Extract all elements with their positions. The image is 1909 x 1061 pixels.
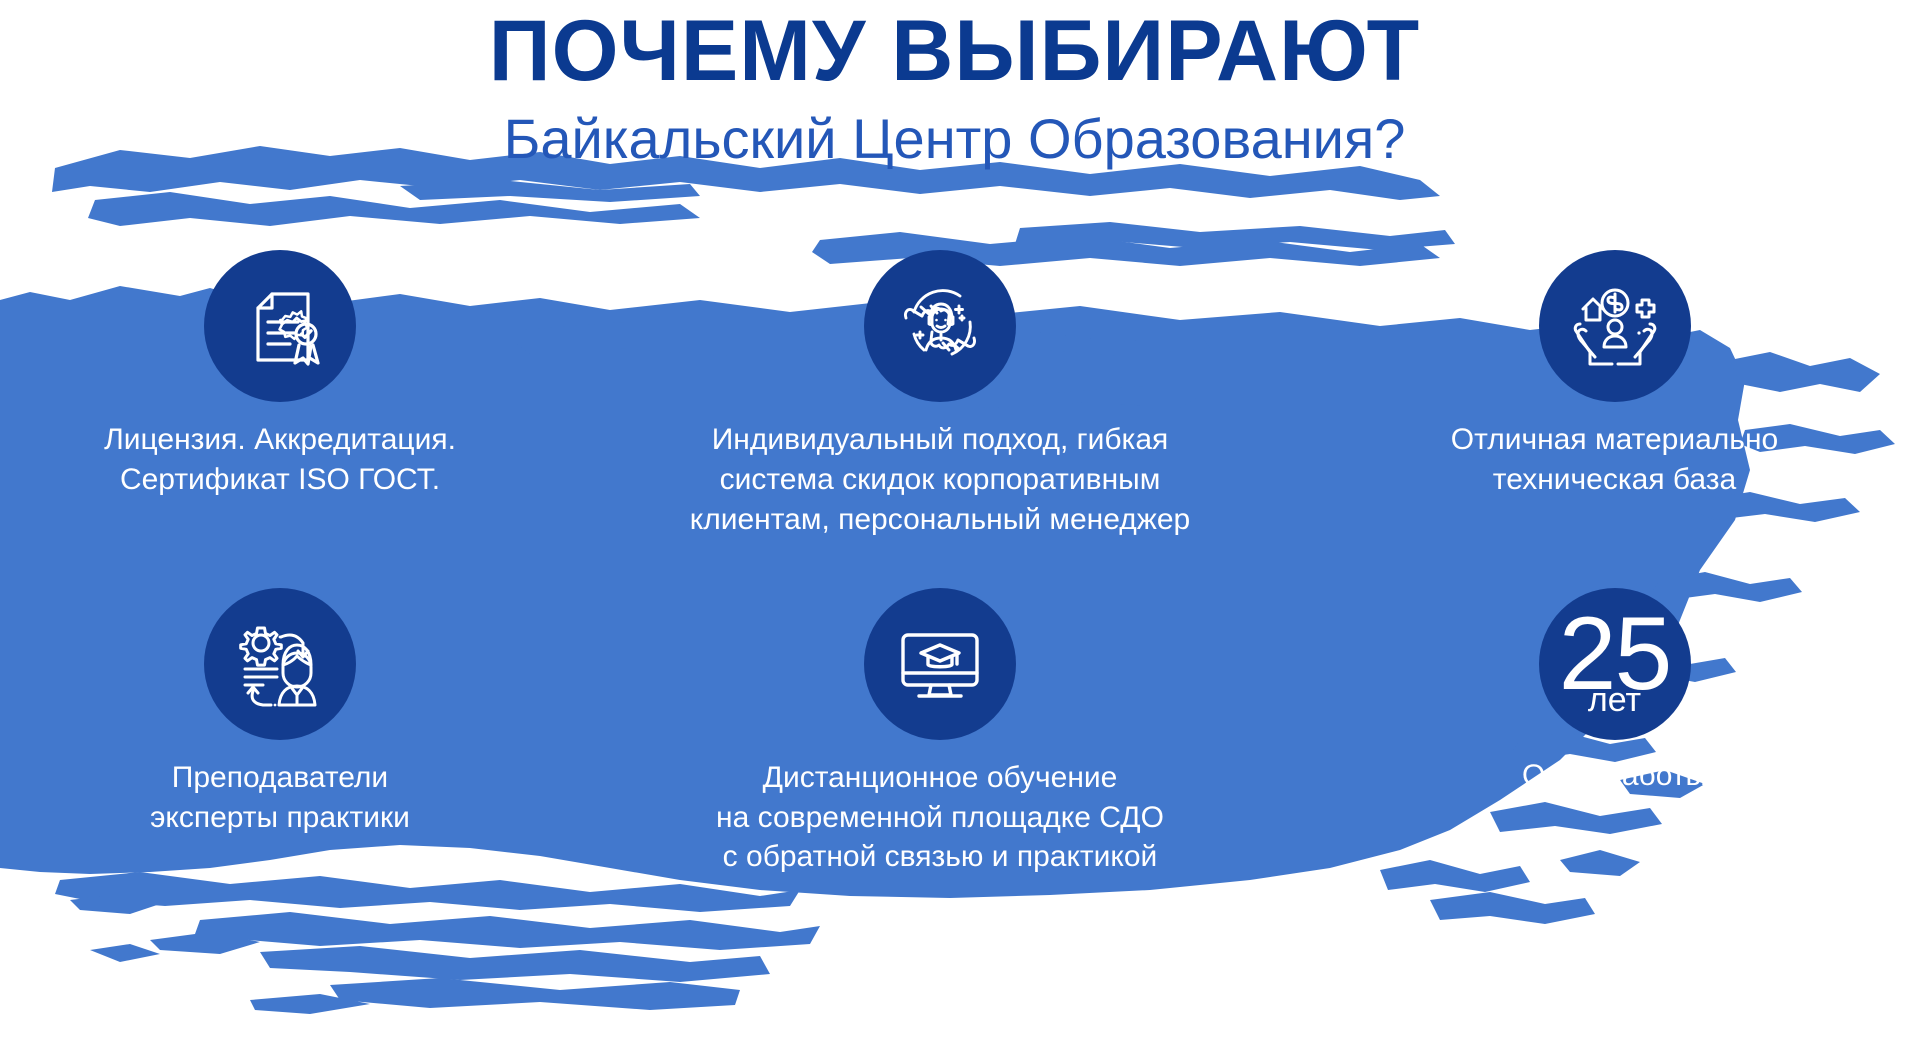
feature-item-individual-approach[interactable]: Индивидуальный подход, гибкая система ск…: [560, 250, 1320, 540]
feature-row-top: Лицензия. Аккредитация. Сертификат ISO Г…: [0, 250, 1909, 540]
expert-teacher-gear-icon: [204, 588, 356, 740]
monitor-graduation-cap-icon: [864, 588, 1016, 740]
feature-caption: Дистанционное обучение на современной пл…: [716, 758, 1164, 878]
page-title: ПОЧЕМУ ВЫБИРАЮТ: [0, 0, 1909, 96]
feature-item-teachers[interactable]: Преподаватели эксперты практики: [0, 588, 560, 838]
feature-row-bottom: Преподаватели эксперты практики Дистанци…: [0, 588, 1909, 878]
certificate-ribbon-icon: [204, 250, 356, 402]
hands-holding-resources-icon: [1539, 250, 1691, 402]
page-subtitle: Байкальский Центр Образования?: [0, 96, 1909, 174]
feature-caption: Опыт работы: [1522, 756, 1707, 796]
feature-caption: Отличная материально техническая база: [1451, 420, 1778, 500]
feature-item-material-base[interactable]: Отличная материально техническая база: [1320, 250, 1909, 500]
feature-item-distance-learning[interactable]: Дистанционное обучение на современной пл…: [560, 588, 1320, 878]
years-badge: 25 лет: [1539, 588, 1691, 740]
years-unit: лет: [1588, 681, 1641, 720]
feature-item-experience[interactable]: 25 лет Опыт работы: [1320, 588, 1909, 796]
feature-caption: Преподаватели эксперты практики: [150, 758, 410, 838]
feature-caption: Индивидуальный подход, гибкая система ск…: [690, 420, 1190, 540]
header: ПОЧЕМУ ВЫБИРАЮТ Байкальский Центр Образо…: [0, 0, 1909, 174]
feature-grid: Лицензия. Аккредитация. Сертификат ISO Г…: [0, 250, 1909, 877]
personal-support-hands-icon: [864, 250, 1016, 402]
feature-item-license[interactable]: Лицензия. Аккредитация. Сертификат ISO Г…: [0, 250, 560, 500]
feature-caption: Лицензия. Аккредитация. Сертификат ISO Г…: [104, 420, 456, 500]
